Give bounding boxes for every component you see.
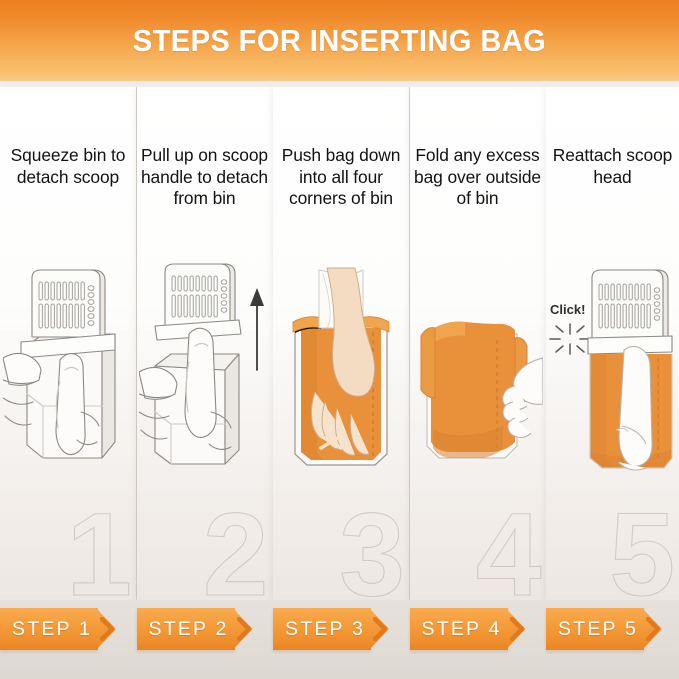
poster-header: STEPS FOR INSERTING BAG	[0, 0, 679, 81]
chevron-right-icon	[510, 617, 525, 641]
step-caption-4: Fold any excess bag over outside of bin	[414, 145, 542, 210]
step-badge-label-1: STEP 1	[12, 608, 92, 650]
step-panel-4: Fold any excess bag over outside of bin …	[410, 87, 546, 600]
step-panel-3: Push bag down into all four corners of b…	[273, 87, 409, 600]
chevron-right-icon	[646, 617, 661, 641]
step-badge-label-5: STEP 5	[558, 608, 638, 650]
step-badge-label-4: STEP 4	[422, 608, 502, 650]
step-illustration-3	[273, 262, 409, 524]
step-caption-2: Pull up on scoop handle to detach from b…	[141, 145, 269, 210]
step-badge-3[interactable]: STEP 3	[273, 608, 391, 650]
instruction-poster: STEPS FOR INSERTING BAG Squeeze bin to d…	[0, 0, 679, 679]
step-panel-5: Reattach scoop head 5 Click!	[546, 87, 679, 600]
step-badge-2[interactable]: STEP 2	[137, 608, 255, 650]
step-badge-label-2: STEP 2	[149, 608, 229, 650]
step-illustration-2	[137, 262, 273, 524]
chevron-right-icon	[373, 617, 388, 641]
click-annotation-text: Click!	[550, 302, 585, 317]
step-caption-5: Reattach scoop head	[550, 145, 675, 188]
step-banner-strip: STEP 1 STEP 2 STEP 3 STEP 4	[0, 600, 679, 679]
step-panel-2: Pull up on scoop handle to detach from b…	[137, 87, 273, 600]
spark-icon	[550, 324, 590, 354]
step-caption-1: Squeeze bin to detach scoop	[4, 145, 132, 188]
step-illustration-5: Click!	[546, 262, 679, 524]
step-badge-4[interactable]: STEP 4	[410, 608, 528, 650]
step-panel-1: Squeeze bin to detach scoop 1	[0, 87, 136, 600]
chevron-right-icon	[100, 617, 115, 641]
step-illustration-4	[410, 262, 546, 524]
step-badge-label-3: STEP 3	[285, 608, 365, 650]
step-badge-1[interactable]: STEP 1	[0, 608, 118, 650]
step-badge-5[interactable]: STEP 5	[546, 608, 679, 650]
step-caption-3: Push bag down into all four corners of b…	[277, 145, 405, 210]
steps-columns: Squeeze bin to detach scoop 1	[0, 87, 679, 600]
page-title: STEPS FOR INSERTING BAG	[20, 0, 658, 81]
chevron-right-icon	[237, 617, 252, 641]
step-illustration-1	[0, 262, 136, 524]
